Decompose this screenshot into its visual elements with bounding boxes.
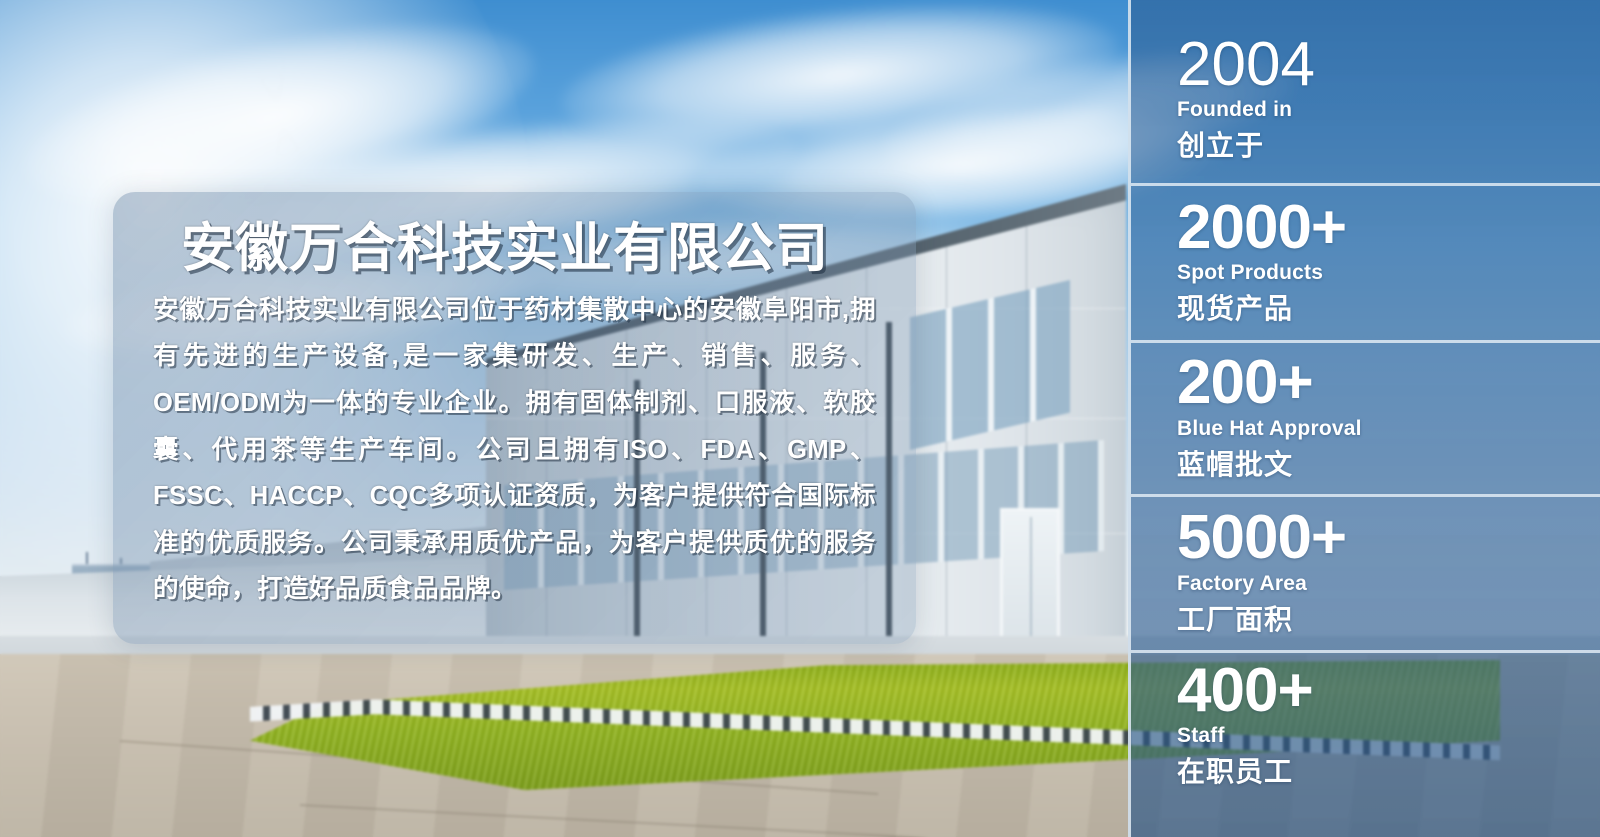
stat-number: 5000+ [1177, 506, 1600, 569]
stat-item-factory-area: 5000+ Factory Area 工厂面积 [1131, 494, 1600, 650]
stat-label-cn: 现货产品 [1177, 287, 1600, 327]
stat-label-en: Blue Hat Approval [1177, 417, 1600, 441]
statistics-panel: 2004 Founded in 创立于 2000+ Spot Products … [1128, 0, 1600, 837]
stat-number: 2000+ [1177, 196, 1600, 259]
company-info-panel: 安徽万合科技实业有限公司 安徽万合科技实业有限公司位于药材集散中心的安徽阜阳市,… [113, 192, 916, 644]
stat-item-staff: 400+ Staff 在职员工 [1131, 650, 1600, 837]
hero-banner: 安徽万合科技实业有限公司 安徽万合科技实业有限公司位于药材集散中心的安徽阜阳市,… [0, 0, 1600, 837]
stat-label-cn: 在职员工 [1177, 750, 1600, 790]
stat-label-cn: 创立于 [1177, 124, 1600, 164]
stat-number: 400+ [1177, 659, 1600, 722]
stat-label-en: Founded in [1177, 98, 1600, 122]
stat-item-blue-hat-approval: 200+ Blue Hat Approval 蓝帽批文 [1131, 340, 1600, 494]
stat-item-founded: 2004 Founded in 创立于 [1131, 0, 1600, 183]
page-title: 安徽万合科技实业有限公司 [181, 218, 876, 281]
stat-label-en: Factory Area [1177, 572, 1600, 596]
company-description: 安徽万合科技实业有限公司位于药材集散中心的安徽阜阳市,拥有先进的生产设备,是一家… [153, 287, 876, 614]
stat-label-cn: 工厂面积 [1177, 598, 1600, 638]
stat-label-en: Staff [1177, 724, 1600, 748]
stat-label-en: Spot Products [1177, 261, 1600, 285]
entrance-door [1000, 508, 1060, 654]
stat-label-cn: 蓝帽批文 [1177, 443, 1600, 483]
stat-number: 200+ [1177, 351, 1600, 414]
stat-item-spot-products: 2000+ Spot Products 现货产品 [1131, 183, 1600, 340]
stat-number: 2004 [1177, 33, 1600, 96]
